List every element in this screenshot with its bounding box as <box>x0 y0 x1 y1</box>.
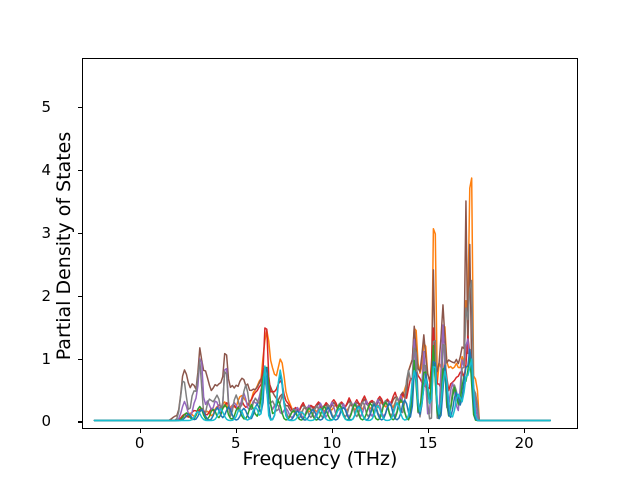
y-tick-label: 0 <box>41 412 51 430</box>
plot-axes <box>82 58 578 429</box>
pdos-series-gray <box>94 280 550 420</box>
y-tick-label: 4 <box>41 161 51 179</box>
x-axis-label: Frequency (THz) <box>0 448 640 470</box>
pdos-series-teal <box>94 359 550 420</box>
y-tick-label: 3 <box>41 224 51 242</box>
y-tick-mark <box>78 421 82 422</box>
y-tick-label: 1 <box>41 350 51 368</box>
y-tick-mark <box>78 107 82 108</box>
pdos-series-purple <box>94 325 550 420</box>
phonon-pdos-figure: 05101520 012345 Frequency (THz) Partial … <box>0 0 640 480</box>
x-tick-mark <box>428 429 429 433</box>
y-tick-mark <box>78 170 82 171</box>
x-tick-mark <box>236 429 237 433</box>
x-tick-mark <box>140 429 141 433</box>
y-tick-label: 2 <box>41 287 51 305</box>
pdos-series-green <box>94 346 550 421</box>
x-tick-mark <box>524 429 525 433</box>
y-tick-mark <box>78 359 82 360</box>
y-tick-label: 5 <box>41 98 51 116</box>
pdos-series-brown <box>94 201 550 421</box>
y-tick-mark <box>78 296 82 297</box>
x-tick-mark <box>332 429 333 433</box>
pdos-series-orange <box>94 178 550 420</box>
y-tick-mark <box>78 233 82 234</box>
pdos-curves <box>83 59 577 428</box>
y-axis-label: Partial Density of States <box>53 86 75 406</box>
